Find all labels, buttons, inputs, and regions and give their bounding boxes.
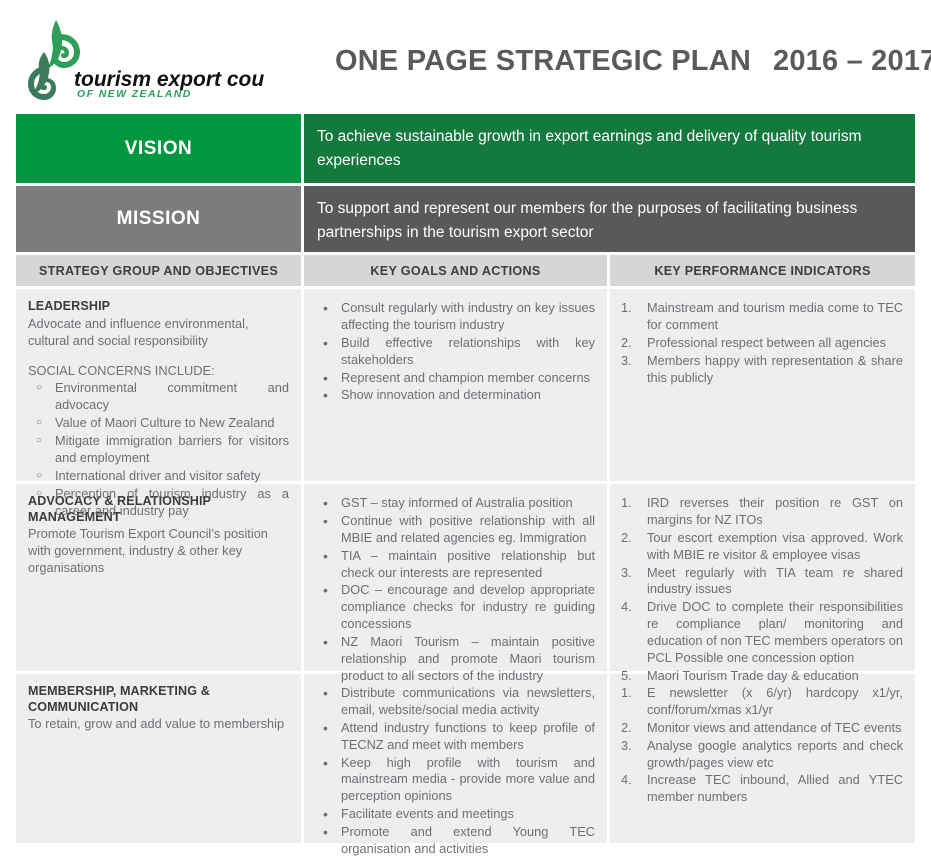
list-item-text: Value of Maori Culture to New Zealand: [55, 415, 275, 430]
bullet-icon: •: [323, 548, 328, 565]
bullet-icon: •: [323, 755, 328, 772]
bullet-icon: •: [323, 634, 328, 651]
list-item-text: Members happy with representation & shar…: [647, 353, 903, 385]
column-header-goals: KEY GOALS AND ACTIONS: [304, 255, 607, 286]
mission-row: MISSION To support and represent our mem…: [16, 186, 915, 252]
bullet-icon: •: [323, 806, 328, 823]
list-item: •Facilitate events and meetings: [314, 806, 595, 823]
list-item: 4.Increase TEC inbound, Allied and YTEC …: [620, 772, 903, 806]
circle-bullet-icon: ○: [36, 433, 42, 449]
list-item-text: NZ Maori Tourism – maintain positive rel…: [341, 634, 595, 683]
goals-cell: •Distribute communications via newslette…: [304, 674, 607, 843]
list-item-text: Mainstream and tourism media come to TEC…: [647, 300, 903, 332]
list-item-text: Monitor views and attendance of TEC even…: [647, 720, 901, 735]
list-item: •Attend industry functions to keep profi…: [314, 720, 595, 754]
list-item: •Continue with positive relationship wit…: [314, 513, 595, 547]
kpi-cell: 1.Mainstream and tourism media come to T…: [610, 289, 915, 481]
list-item-text: TIA – maintain positive relationship but…: [341, 548, 595, 580]
list-item: 1.Mainstream and tourism media come to T…: [620, 300, 903, 334]
list-item-text: Show innovation and determination: [341, 387, 541, 402]
section-subtitle: Advocate and influence environmental, cu…: [28, 316, 289, 350]
list-item-text: Environmental commitment and advocacy: [55, 380, 289, 412]
bullet-icon: •: [323, 300, 328, 317]
list-item-text: Build effective relationships with key s…: [341, 335, 595, 367]
goals-cell: •Consult regularly with industry on key …: [304, 289, 607, 481]
list-item: 1.IRD reverses their position re GST on …: [620, 495, 903, 529]
list-number: 2.: [621, 720, 632, 737]
goals-list: •Consult regularly with industry on key …: [314, 300, 595, 404]
kpi-list: 1.E newsletter (x 6/yr) hardcopy x1/yr, …: [620, 685, 903, 806]
page-title: ONE PAGE STRATEGIC PLAN2016 – 2017: [335, 45, 931, 78]
bullet-icon: •: [323, 685, 328, 702]
list-item-text: GST – stay informed of Australia positio…: [341, 495, 573, 510]
bullet-icon: •: [323, 824, 328, 841]
vision-text: To achieve sustainable growth in export …: [304, 114, 915, 183]
list-number: 1.: [621, 495, 632, 512]
mission-label: MISSION: [16, 186, 301, 252]
kpi-list: 1.IRD reverses their position re GST on …: [620, 495, 903, 685]
list-item-text: Consult regularly with industry on key i…: [341, 300, 595, 332]
bullet-icon: •: [323, 370, 328, 387]
page-title-years: 2016 – 2017: [773, 45, 931, 77]
section-sub-heading: SOCIAL CONCERNS INCLUDE:: [28, 363, 289, 380]
vision-row: VISION To achieve sustainable growth in …: [16, 114, 915, 183]
section-title: MEMBERSHIP, MARKETING & COMMUNICATION: [28, 684, 289, 715]
list-number: 5.: [621, 668, 632, 685]
list-number: 2.: [621, 335, 632, 352]
kpi-cell: 1.E newsletter (x 6/yr) hardcopy x1/yr, …: [610, 674, 915, 843]
list-item: 2.Monitor views and attendance of TEC ev…: [620, 720, 903, 737]
list-number: 4.: [621, 772, 632, 789]
list-item-text: Distribute communications via newsletter…: [341, 685, 595, 717]
list-number: 2.: [621, 530, 632, 547]
list-item-text: E newsletter (x 6/yr) hardcopy x1/yr, co…: [647, 685, 903, 717]
list-item: •TIA – maintain positive relationship bu…: [314, 548, 595, 582]
list-item-text: Attend industry functions to keep profil…: [341, 720, 595, 752]
list-item: •Keep high profile with tourism and main…: [314, 755, 595, 806]
circle-bullet-icon: ○: [36, 486, 42, 502]
list-item-text: Mitigate immigration barriers for visito…: [55, 433, 289, 465]
list-number: 1.: [621, 300, 632, 317]
list-number: 3.: [621, 565, 632, 582]
table-row: LEADERSHIP Advocate and influence enviro…: [16, 289, 915, 481]
list-item-text: Tour escort exemption visa approved. Wor…: [647, 530, 903, 562]
list-item-text: Facilitate events and meetings: [341, 806, 514, 821]
logo-subtitle: OF NEW ZEALAND: [77, 88, 192, 100]
list-item: 4.Drive DOC to complete their responsibi…: [620, 599, 903, 667]
section-subtitle: To retain, grow and add value to members…: [28, 716, 289, 733]
list-item: •Represent and champion member concerns: [314, 370, 595, 387]
tourism-export-council-logo: tourism export council OF NEW ZEALAND: [14, 14, 264, 102]
list-item-text: Drive DOC to complete their responsibili…: [647, 599, 903, 665]
list-item: •Show innovation and determination: [314, 387, 595, 404]
list-item-text: DOC – encourage and develop appropriate …: [341, 582, 595, 631]
list-item-text: Continue with positive relationship with…: [341, 513, 595, 545]
vision-label: VISION: [16, 114, 301, 183]
list-item: •DOC – encourage and develop appropriate…: [314, 582, 595, 633]
list-item-text: IRD reverses their position re GST on ma…: [647, 495, 903, 527]
mission-text: To support and represent our members for…: [304, 186, 915, 252]
list-item-text: Maori Tourism Trade day & education: [647, 668, 859, 683]
logo-artwork: tourism export council OF NEW ZEALAND: [14, 14, 264, 102]
social-concerns-list: ○Environmental commitment and advocacy ○…: [28, 380, 289, 519]
list-item: •Consult regularly with industry on key …: [314, 300, 595, 334]
list-item: ○Mitigate immigration barriers for visit…: [28, 433, 289, 467]
list-item-text: Keep high profile with tourism and mains…: [341, 755, 595, 804]
list-item-text: Analyse google analytics reports and che…: [647, 738, 903, 770]
circle-bullet-icon: ○: [36, 415, 42, 431]
bullet-icon: •: [323, 387, 328, 404]
bullet-icon: •: [323, 495, 328, 512]
list-item-text: International driver and visitor safety: [55, 468, 261, 483]
list-item: •Distribute communications via newslette…: [314, 685, 595, 719]
kpi-cell: 1.IRD reverses their position re GST on …: [610, 484, 915, 671]
table-row: MEMBERSHIP, MARKETING & COMMUNICATION To…: [16, 674, 915, 843]
list-item: ○Value of Maori Culture to New Zealand: [28, 415, 289, 432]
list-number: 3.: [621, 353, 632, 370]
bullet-icon: •: [323, 335, 328, 352]
list-item-text: Represent and champion member concerns: [341, 370, 590, 385]
list-item: •GST – stay informed of Australia positi…: [314, 495, 595, 512]
list-item-text: Meet regularly with TIA team re shared i…: [647, 565, 903, 597]
list-item-text: Perception of tourism industry as a care…: [55, 486, 289, 518]
list-item-text: Professional respect between all agencie…: [647, 335, 886, 350]
kpi-list: 1.Mainstream and tourism media come to T…: [620, 300, 903, 386]
list-item: 3.Analyse google analytics reports and c…: [620, 738, 903, 772]
strategy-table: VISION To achieve sustainable growth in …: [16, 114, 915, 843]
list-item: ○Perception of tourism industry as a car…: [28, 486, 289, 520]
list-item: ○International driver and visitor safety: [28, 468, 289, 485]
list-item: •Promote and extend Young TEC organisati…: [314, 824, 595, 858]
column-header-kpi: KEY PERFORMANCE INDICATORS: [610, 255, 915, 286]
section-subtitle: Promote Tourism Export Council’s positio…: [28, 526, 289, 577]
list-item: 5.Maori Tourism Trade day & education: [620, 668, 903, 685]
circle-bullet-icon: ○: [36, 468, 42, 484]
goals-cell: •GST – stay informed of Australia positi…: [304, 484, 607, 671]
column-header-row: STRATEGY GROUP AND OBJECTIVES KEY GOALS …: [16, 255, 915, 286]
strategy-cell: LEADERSHIP Advocate and influence enviro…: [16, 289, 301, 481]
list-number: 4.: [621, 599, 632, 616]
list-item-text: Promote and extend Young TEC organisatio…: [341, 824, 595, 856]
list-item: •NZ Maori Tourism – maintain positive re…: [314, 634, 595, 685]
list-number: 3.: [621, 738, 632, 755]
page-title-text: ONE PAGE STRATEGIC PLAN: [335, 45, 751, 77]
bullet-icon: •: [323, 720, 328, 737]
strategic-plan-page: tourism export council OF NEW ZEALAND ON…: [0, 0, 931, 857]
list-item: •Build effective relationships with key …: [314, 335, 595, 369]
list-item-text: Increase TEC inbound, Allied and YTEC me…: [647, 772, 903, 804]
list-item: 1.E newsletter (x 6/yr) hardcopy x1/yr, …: [620, 685, 903, 719]
strategy-cell: MEMBERSHIP, MARKETING & COMMUNICATION To…: [16, 674, 301, 843]
list-number: 1.: [621, 685, 632, 702]
goals-list: •Distribute communications via newslette…: [314, 685, 595, 858]
goals-list: •GST – stay informed of Australia positi…: [314, 495, 595, 685]
list-item: 2.Tour escort exemption visa approved. W…: [620, 530, 903, 564]
circle-bullet-icon: ○: [36, 380, 42, 396]
page-header: tourism export council OF NEW ZEALAND ON…: [0, 0, 931, 112]
bullet-icon: •: [323, 582, 328, 599]
list-item: 3.Meet regularly with TIA team re shared…: [620, 565, 903, 599]
list-item: 2.Professional respect between all agenc…: [620, 335, 903, 352]
column-header-strategy: STRATEGY GROUP AND OBJECTIVES: [16, 255, 301, 286]
section-title: LEADERSHIP: [28, 299, 289, 315]
list-item: ○Environmental commitment and advocacy: [28, 380, 289, 414]
list-item: 3.Members happy with representation & sh…: [620, 353, 903, 387]
bullet-icon: •: [323, 513, 328, 530]
